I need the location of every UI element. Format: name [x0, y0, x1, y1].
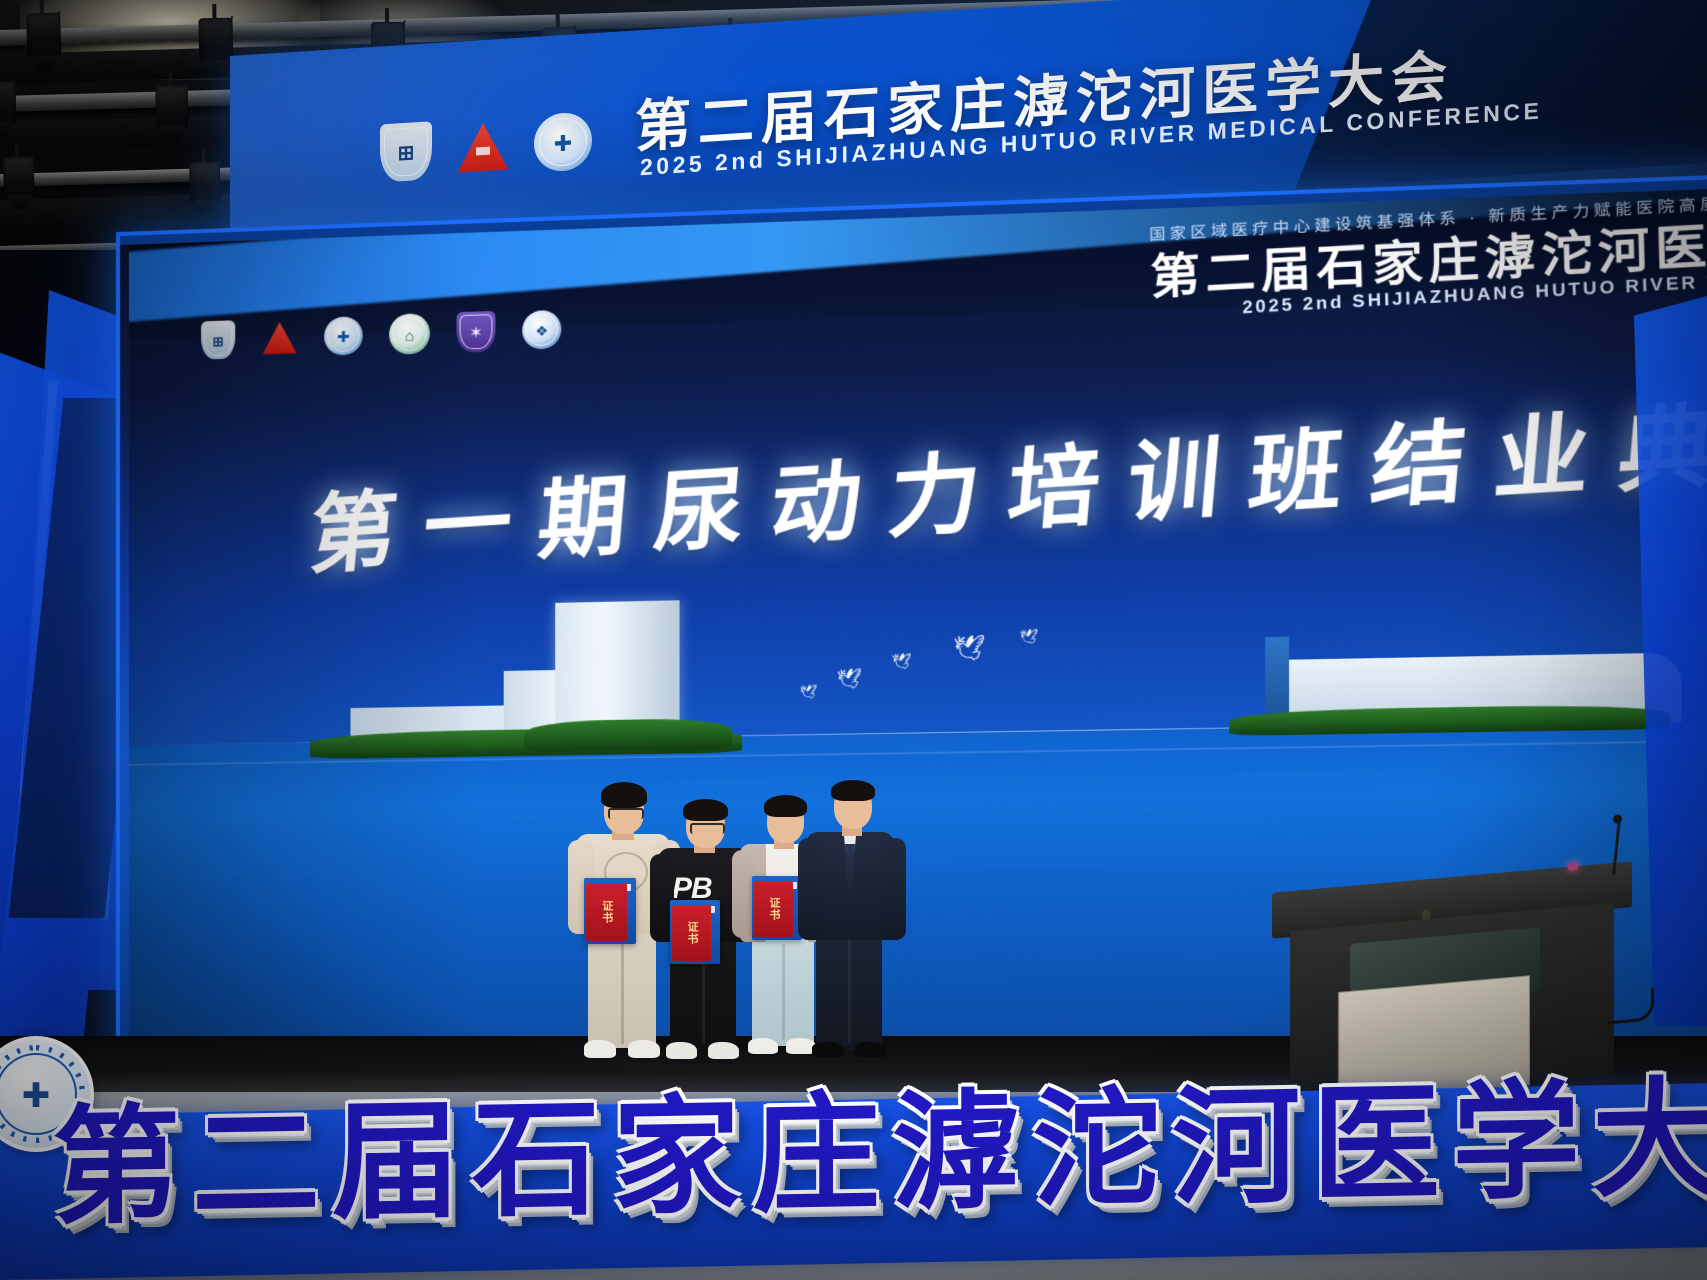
hospital-shield-emblem-icon: ⊞	[380, 121, 432, 182]
spotlight-icon	[25, 10, 61, 73]
certificate-text: 证书	[768, 897, 779, 921]
person-arm	[798, 838, 822, 940]
spotlight-icon	[189, 160, 221, 216]
certificate: 证书	[752, 876, 802, 940]
spotlight-icon	[198, 15, 233, 78]
status-light	[1568, 862, 1578, 871]
presenter-in-dark-suit	[800, 780, 904, 1062]
spotlight-icon	[3, 155, 36, 212]
certificate-text: 证书	[601, 900, 612, 924]
certificate: 证书	[670, 900, 720, 964]
glasses-icon	[690, 823, 725, 834]
certificate: 证书	[584, 878, 636, 944]
stage-photo-scene: ⊞ ✚ 第二届石家庄滹沱河医学大会 2025 2nd SHIJIAZHUANG …	[0, 0, 1707, 1280]
spotlight-icon	[155, 84, 188, 143]
person-arm	[882, 838, 906, 940]
spotlight-icon	[0, 79, 17, 139]
foreground-sign-text: 第二届石家庄滹沱河医学大会	[52, 1036, 1652, 1249]
glasses-icon	[608, 808, 644, 819]
person-arm	[732, 850, 754, 938]
blue-circular-medical-emblem-icon: ✚	[534, 111, 592, 173]
certificate-text: 证书	[686, 921, 697, 945]
red-triangle-emblem-icon	[456, 119, 510, 174]
